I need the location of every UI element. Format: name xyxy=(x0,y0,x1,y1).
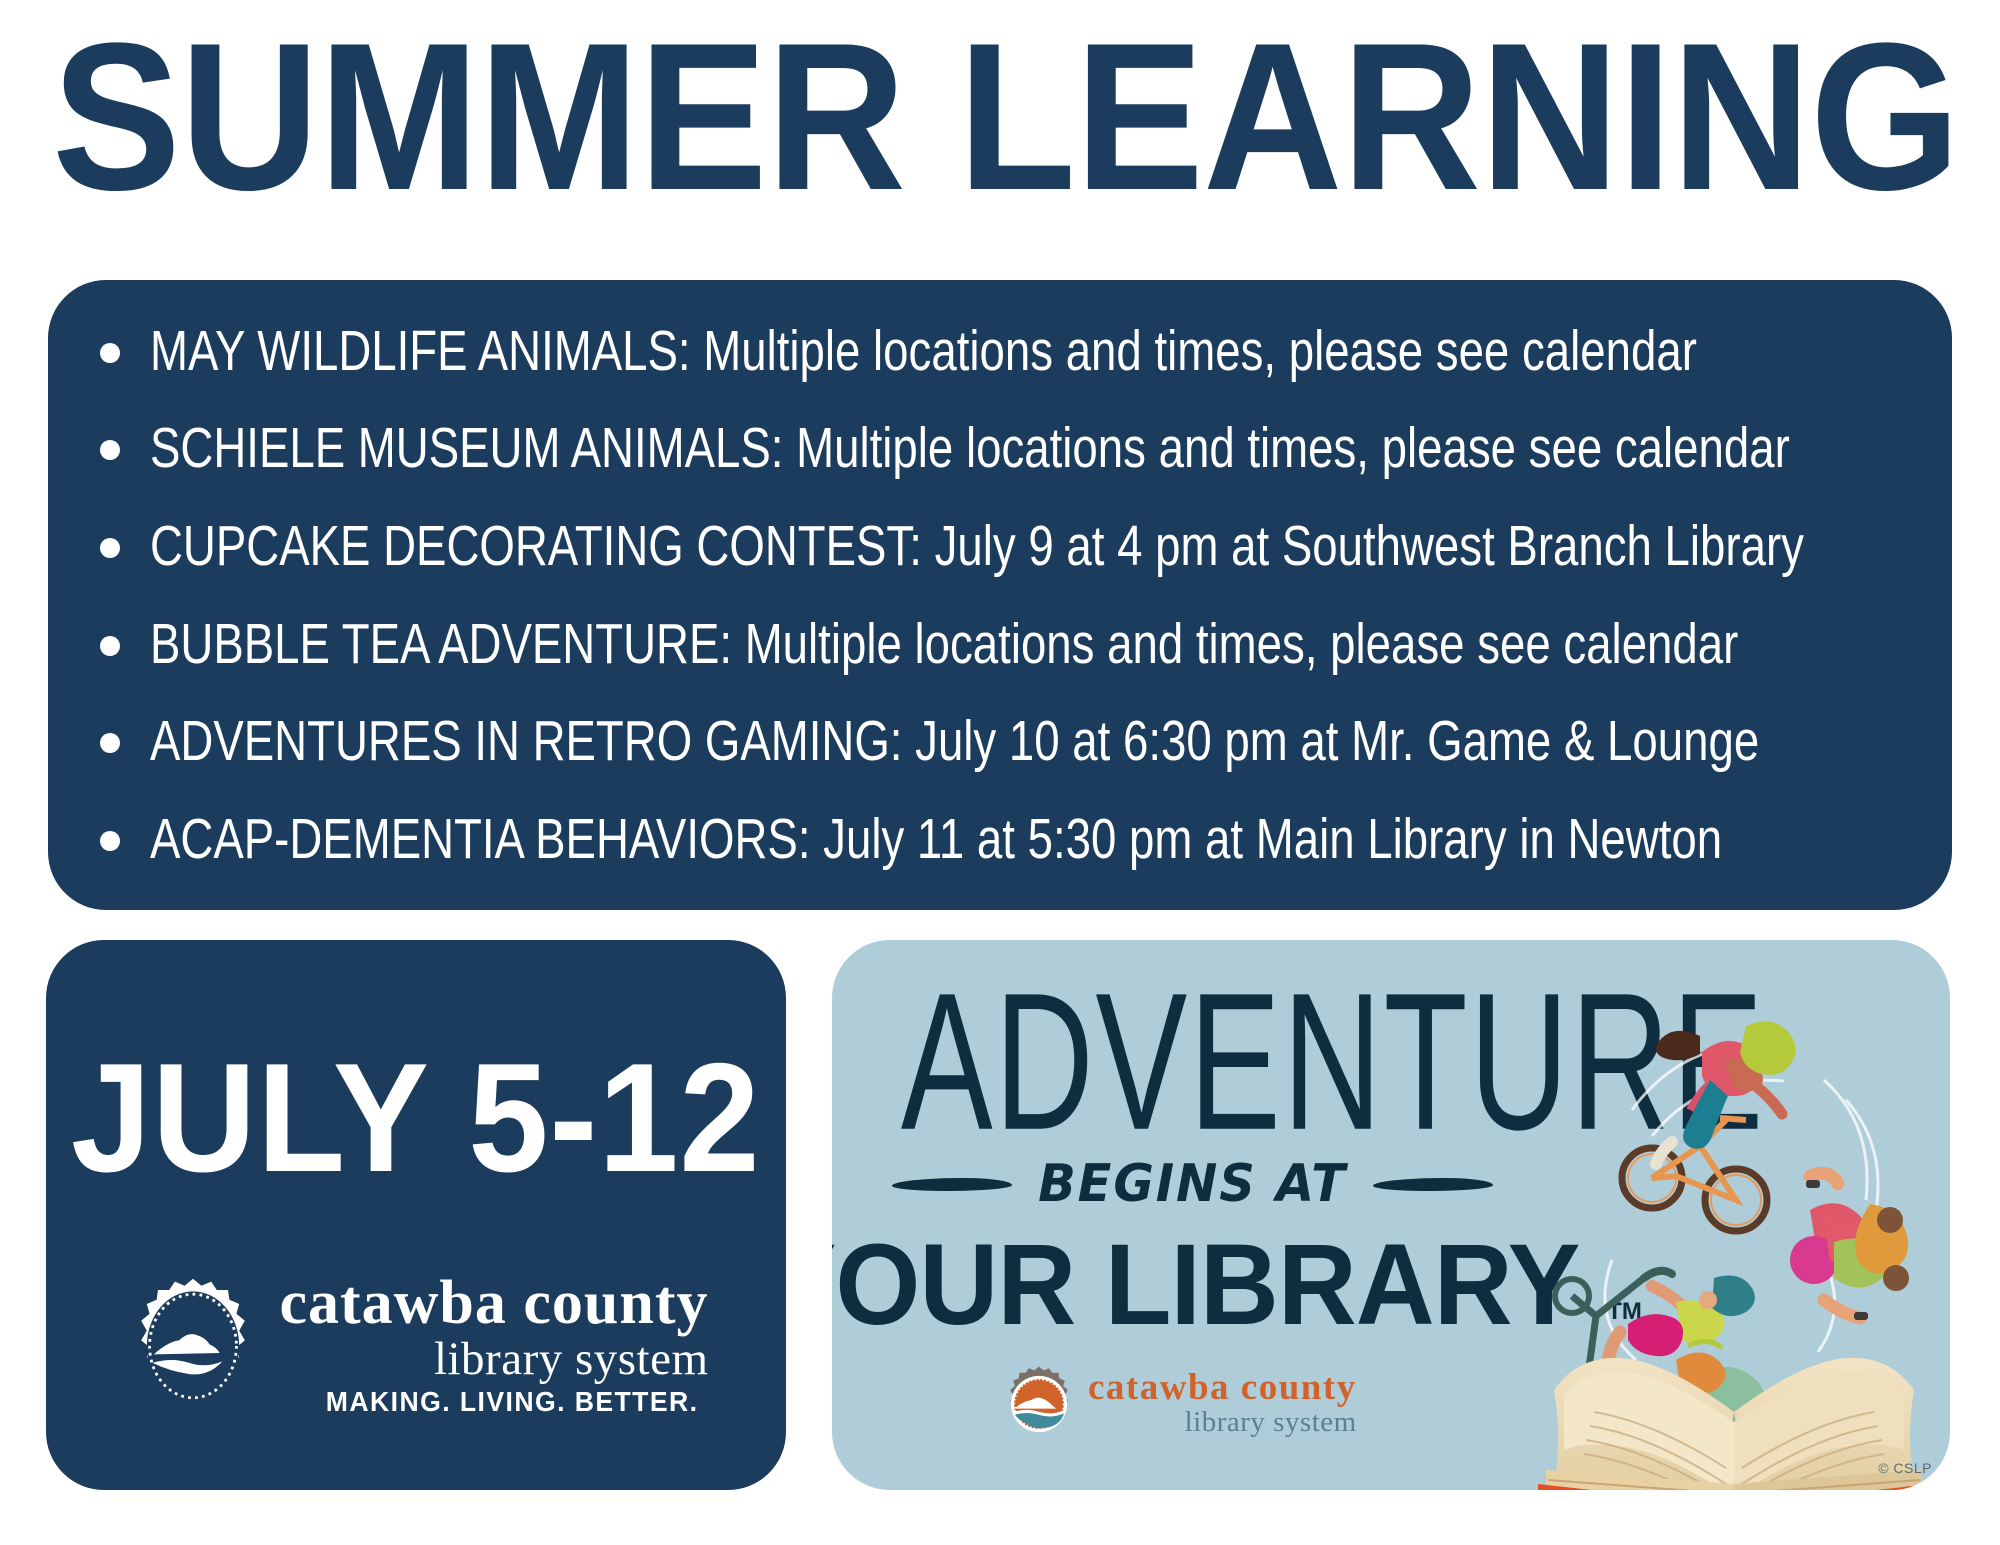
event-name: BUBBLE TEA ADVENTURE: xyxy=(150,612,732,676)
copyright-notice: © CSLP xyxy=(1878,1460,1932,1476)
catawba-library-logo-color: catawba county library system xyxy=(1000,1365,1357,1443)
logo-subtitle: library system xyxy=(434,1333,709,1385)
catawba-library-logo-white: catawba county library system MAKING. LI… xyxy=(123,1273,708,1419)
events-list: MAY WILDLIFE ANIMALS: Multiple locations… xyxy=(100,302,1922,888)
event-detail: Multiple locations and times, please see… xyxy=(783,416,1789,480)
brush-dash-right-icon xyxy=(1373,1178,1493,1191)
brush-dash-left-icon xyxy=(892,1178,1012,1191)
event-detail: July 10 at 6:30 pm at Mr. Game & Lounge xyxy=(902,709,1759,773)
event-name: ADVENTURES IN RETRO GAMING: xyxy=(150,709,902,773)
begins-at-text: BEGINS AT xyxy=(1038,1158,1347,1210)
list-item: MAY WILDLIFE ANIMALS: Multiple locations… xyxy=(100,320,1922,382)
date-range: JULY 5-12 xyxy=(71,1040,761,1195)
gear-logo-icon xyxy=(123,1276,263,1416)
bullet-icon xyxy=(100,733,120,753)
event-name: ACAP-DEMENTIA BEHAVIORS: xyxy=(150,807,810,871)
event-name: MAY WILDLIFE ANIMALS: xyxy=(150,319,691,383)
logo-name: catawba county xyxy=(279,1273,708,1333)
event-detail: Multiple locations and times, please see… xyxy=(732,612,1738,676)
bullet-icon xyxy=(100,440,120,460)
bullet-icon xyxy=(100,343,120,363)
logo-name: catawba county xyxy=(1088,1370,1357,1406)
event-text: SCHIELE MUSEUM ANIMALS: Multiple locatio… xyxy=(150,417,1790,479)
list-item: ACAP-DEMENTIA BEHAVIORS: July 11 at 5:30… xyxy=(100,808,1922,870)
bullet-icon xyxy=(100,538,120,558)
your-library-text: YOUR LIBRARY xyxy=(832,1230,1580,1340)
adventure-headline: ADVENTURE xyxy=(901,964,1477,1159)
event-text: MAY WILDLIFE ANIMALS: Multiple locations… xyxy=(150,320,1697,382)
event-text: ADVENTURES IN RETRO GAMING: July 10 at 6… xyxy=(150,710,1759,772)
list-item: CUPCAKE DECORATING CONTEST: July 9 at 4 … xyxy=(100,515,1922,577)
list-item: BUBBLE TEA ADVENTURE: Multiple locations… xyxy=(100,613,1922,675)
list-item: SCHIELE MUSEUM ANIMALS: Multiple locatio… xyxy=(100,417,1922,479)
event-name: CUPCAKE DECORATING CONTEST: xyxy=(150,514,922,578)
event-detail: July 9 at 4 pm at Southwest Branch Libra… xyxy=(922,514,1804,578)
event-detail: Multiple locations and times, please see… xyxy=(691,319,1697,383)
event-text: CUPCAKE DECORATING CONTEST: July 9 at 4 … xyxy=(150,515,1804,577)
adventure-illustration xyxy=(1524,960,1944,1490)
logo-wordmark: catawba county library system MAKING. LI… xyxy=(279,1273,708,1419)
logo-tagline: MAKING. LIVING. BETTER. xyxy=(326,1385,699,1419)
gear-logo-icon xyxy=(1000,1365,1078,1443)
adventure-wordmark: ADVENTURE BEGINS AT YOUR LIBRARY TM xyxy=(832,940,1542,1490)
logo-wordmark: catawba county library system xyxy=(1088,1370,1357,1438)
bullet-icon xyxy=(100,636,120,656)
event-name: SCHIELE MUSEUM ANIMALS: xyxy=(150,416,783,480)
adventure-card: ADVENTURE BEGINS AT YOUR LIBRARY TM xyxy=(832,940,1950,1490)
event-text: ACAP-DEMENTIA BEHAVIORS: July 11 at 5:30… xyxy=(150,808,1722,870)
page-title: SUMMER LEARNING 2024 xyxy=(52,22,1800,212)
begins-at-row: BEGINS AT xyxy=(872,1158,1512,1210)
event-text: BUBBLE TEA ADVENTURE: Multiple locations… xyxy=(150,613,1738,675)
events-panel: MAY WILDLIFE ANIMALS: Multiple locations… xyxy=(48,280,1952,910)
bullet-icon xyxy=(100,831,120,851)
logo-subtitle: library system xyxy=(1185,1406,1357,1438)
your-library-row: YOUR LIBRARY TM xyxy=(862,1230,1522,1340)
date-card: JULY 5-12 catawba county library system … xyxy=(46,940,786,1490)
poster-canvas: SUMMER LEARNING 2024 MAY WILDLIFE ANIMAL… xyxy=(0,0,2000,1545)
event-detail: July 11 at 5:30 pm at Main Library in Ne… xyxy=(810,807,1722,871)
list-item: ADVENTURES IN RETRO GAMING: July 10 at 6… xyxy=(100,710,1922,772)
